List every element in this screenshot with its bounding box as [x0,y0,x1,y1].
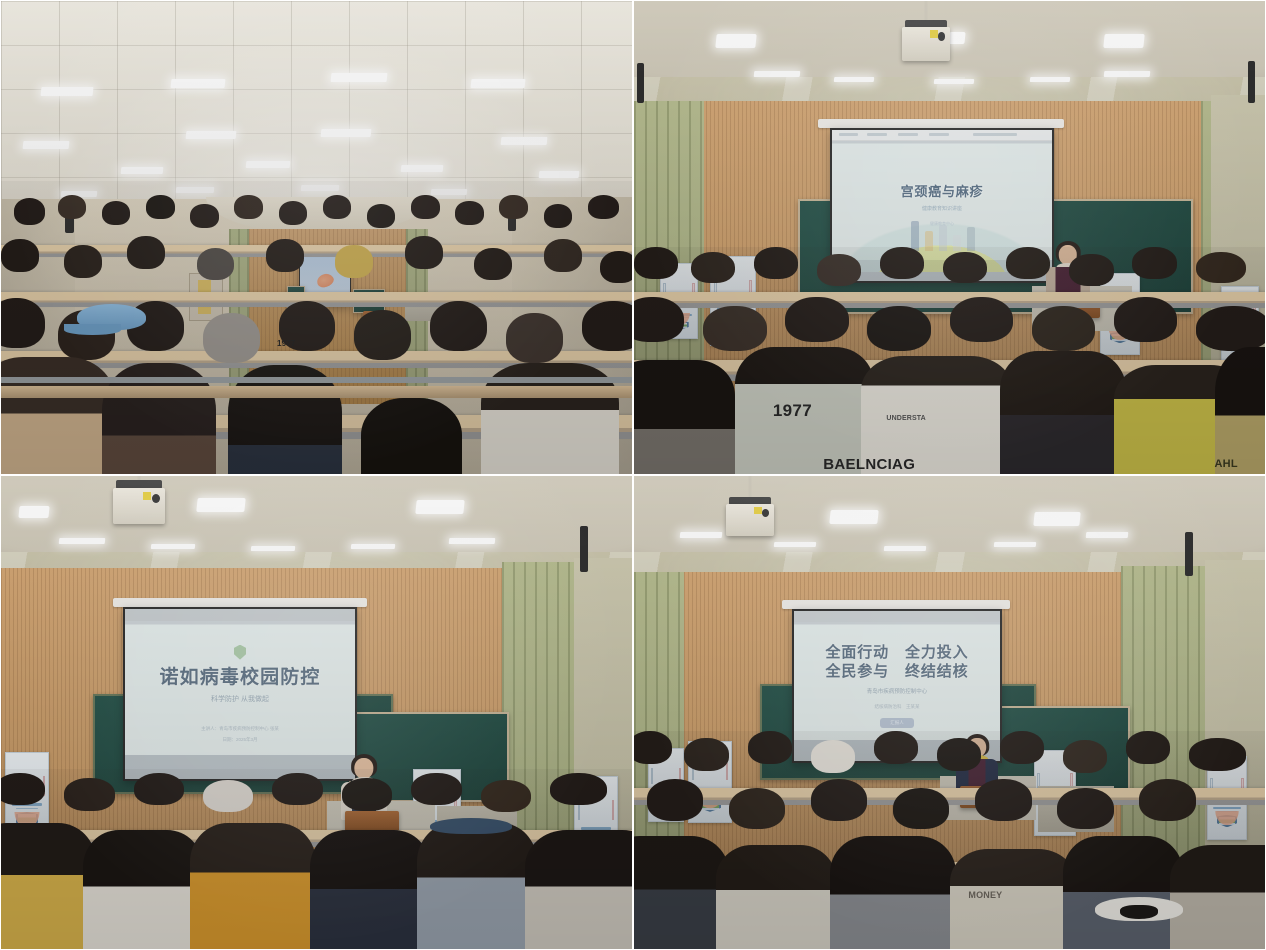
ceiling-light [948,32,965,44]
audience-head [703,306,766,351]
slide-title: 宫颈癌与麻疹 [901,184,984,200]
slide-subtitle: 健康教育知识讲座 [922,205,962,212]
ceiling-light [41,87,94,96]
ceiling-light [321,129,372,137]
audience-head [411,195,439,218]
screen-housing [818,119,1064,128]
ceiling-light [331,73,388,82]
audience-head [748,731,792,764]
projector-icon [726,504,774,536]
audience-head [880,247,924,279]
audience-head [754,247,798,279]
panel-bottom-right-tuberculosis-lecture[interactable]: 全面行动 全力投入 全民参与 终结结核 青岛市疾病预防控制中心 结核病防治科 王… [633,475,1266,950]
audience-head [127,236,165,268]
cloth-text-1977: 1977 [773,401,812,421]
foreground-person [1000,351,1126,474]
slide-header-bar [125,609,355,621]
ceiling-light [151,544,196,549]
foreground-person [83,830,203,949]
lecture-hall-room: 诺如病毒校园防控 科学防护 从我做起 主讲人：青岛市疾病预防控制中心 张某 日期… [1,476,632,949]
ceiling-light [351,544,396,549]
screen-housing [782,600,1010,609]
ceiling-light [1030,77,1071,82]
ceiling-light [680,532,723,538]
audience-head [634,247,678,279]
audience-area: MONEY [634,731,1265,949]
audience-head [64,245,102,277]
projector-label [754,507,762,514]
projector-label [930,30,938,37]
audience-head [544,204,572,227]
audience-head [14,198,46,224]
ceiling-light [829,510,878,524]
ceiling-light [415,500,464,514]
audience-head [893,788,950,829]
audience-head [1189,738,1246,771]
audience-area [1,181,632,474]
audience-head [1006,247,1050,279]
foreground-person [634,360,735,474]
foreground-person [190,823,316,949]
ceiling-light [1104,71,1151,77]
audience-head [544,239,582,271]
audience-head [474,248,512,280]
baseball-cap [430,818,512,834]
audience-head [335,245,373,277]
audience-head [1,239,39,271]
projection-screen[interactable]: 诺如病毒校园防控 科学防护 从我做起 主讲人：青岛市疾病预防控制中心 张某 日期… [123,607,357,781]
audience-head [146,195,174,218]
audience-head [1063,740,1107,773]
foreground-person [1063,836,1183,949]
audience-head [430,301,487,351]
screen-housing [113,598,367,607]
slide-browser-bar [832,130,1052,141]
audience-head [867,306,930,351]
audience-head [481,780,531,812]
audience-head [58,195,86,218]
ceiling-light [994,542,1037,547]
audience-head [588,195,620,218]
audience-head [874,731,918,764]
audience-head [1114,297,1177,342]
foreground-person [1170,845,1265,949]
audience-head [234,195,262,218]
slide-title: 诺如病毒校园防控 [159,666,320,690]
cloth-text-money: MONEY [968,890,1002,900]
audience-head [405,236,443,268]
ceiling-light [834,77,875,82]
audience-head [190,204,218,227]
audience-head [1,298,45,348]
ceiling-light [774,542,817,547]
audience-head [1139,779,1196,820]
wall-speaker-icon [1185,532,1193,576]
slide-title-line-1: 全面行动 全力投入 [825,644,968,663]
audience-head [691,252,735,284]
cloth-text-1977: 1977 [277,339,295,348]
ceiling-light [251,546,296,551]
ceiling-light [59,538,106,544]
ceiling-light [186,131,237,139]
cloth-text-ahl: AHL [1215,458,1238,470]
audience-head [582,301,632,351]
ceiling-light [501,137,548,145]
ceiling-light [18,506,49,518]
audience-head [811,779,868,820]
ceiling-light [171,79,226,88]
projector-icon [902,27,950,61]
slide-title-line-2: 全民参与 终结结核 [825,663,968,682]
baseball-cap-brim [64,324,121,334]
audience-head [647,779,704,820]
baseball-cap-logo [1120,905,1158,918]
audience-head [367,204,395,227]
audience-head [102,201,130,224]
wall-speaker-icon [580,526,588,572]
slide-presenter-line: 结核病防治科 王某某 [875,704,920,710]
audience-head [1000,731,1044,764]
ceiling-light [754,71,801,77]
ceiling-light [471,79,526,88]
audience-head [1126,731,1170,764]
ceiling-light [1103,34,1144,48]
wall-speaker-icon [637,63,644,103]
foreground-person [361,398,462,474]
audience-head [134,773,184,805]
slide-date-line: 日期：2025年3月 [222,737,257,743]
audience-head [1057,788,1114,829]
ceiling-light [1033,512,1080,526]
panel-bottom-left-norovirus-lecture[interactable]: 诺如病毒校园防控 科学防护 从我做起 主讲人：青岛市疾病预防控制中心 张某 日期… [0,475,633,950]
ceiling-light [539,171,580,178]
slide-presenter-badge: 汇报人 [880,718,914,728]
panel-top-right-cervical-cancer-measles[interactable]: 宫颈癌与麻疹 健康教育知识讲座 健康教育中心 [633,0,1266,475]
foreground-person [417,823,537,949]
projector-label [143,492,151,500]
audience-head [684,738,728,771]
audience-head [1196,252,1246,284]
audience-head [455,201,483,224]
foreground-person [634,836,729,949]
audience-head [342,778,392,810]
audience-head [272,773,322,805]
slide-subtitle: 青岛市疾病预防控制中心 [867,687,928,695]
audience-head [1196,306,1265,351]
audience-head [203,313,260,363]
audience-head [354,310,411,360]
slide-header-bar [794,611,1000,622]
audience-head [203,780,253,812]
slide-subtitle: 科学防护 从我做起 [211,694,269,704]
panel-top-left-wide-lecture-hall[interactable]: 1977 [0,0,633,475]
audience-head [550,773,607,805]
audience-area [1,769,632,949]
audience-head [499,195,527,218]
ceiling-light [449,538,496,544]
slide-subtitle-2: 健康教育中心 [930,221,954,227]
audience-head [1132,247,1176,279]
lecture-hall-room: 全面行动 全力投入 全民参与 终结结核 青岛市疾病预防控制中心 结核病防治科 王… [634,476,1265,949]
audience-head [937,738,981,771]
foreground-person [525,830,632,949]
lecture-hall-room: 1977 [1,1,632,474]
wall-speaker-icon [1248,61,1255,103]
desk-foreground [1,386,632,398]
audience-head [323,195,351,218]
ceiling-light [121,167,164,174]
foreground-person [1,823,96,949]
foreground-person [310,830,430,949]
lecture-hall-room: 宫颈癌与麻疹 健康教育知识讲座 健康教育中心 [634,1,1265,474]
ceiling-light [1086,532,1129,538]
foreground-person [830,836,956,949]
audience-head [279,201,307,224]
audience-head [975,779,1032,820]
cloth-text-understa: UNDERSTA [886,415,926,422]
audience-head [411,773,461,805]
audience-head [729,788,786,829]
slide-presenter-line: 主讲人：青岛市疾病预防控制中心 张某 [201,726,279,732]
ceiling-light [401,165,444,172]
projector-lens-icon [152,494,160,503]
cloth-text-baelnciag: BAELNCIAG [823,456,915,473]
ceiling-light [934,79,975,84]
audience-area: 1977 UNDERSTA BAELNCIAG AHL [634,247,1265,474]
ceiling-light [715,34,756,48]
ceiling-light [23,141,70,149]
foreground-person [716,845,836,949]
audience-head [1069,254,1113,286]
foreground-person [1,357,115,474]
ceiling-light [246,161,291,168]
slide-shield-icon [234,645,246,660]
projector-icon [113,488,165,524]
foreground-person [1215,347,1265,474]
audience-head [943,252,987,284]
ceiling-light [196,498,245,512]
audience-head [197,248,235,280]
audience-head [785,297,848,342]
ceiling-light [884,546,927,551]
audience-head [811,740,855,773]
audience-head [600,251,632,283]
audience-head [1,773,45,805]
audience-head [64,778,114,810]
audience-head [1032,306,1095,351]
audience-head [634,731,672,764]
audience-head [817,254,861,286]
audience-head [950,297,1013,342]
photo-collage-grid: 1977 [0,0,1266,950]
audience-head [506,313,563,363]
audience-head [266,239,304,271]
desk-rail [1,377,632,383]
